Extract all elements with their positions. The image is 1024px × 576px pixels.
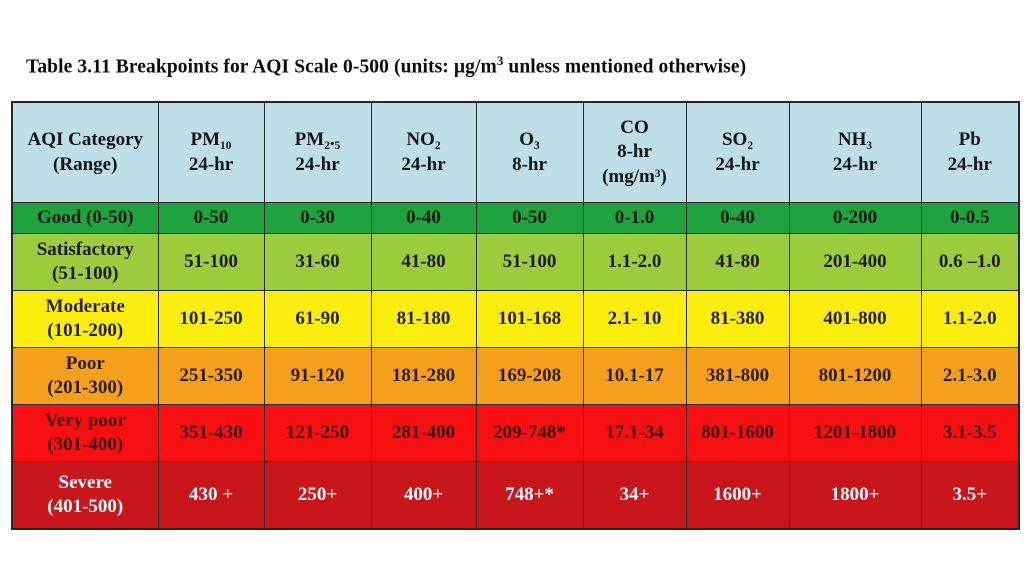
category-cell-severe: Severe (401-500) <box>12 462 158 530</box>
cell-good-co: 0-1.0 <box>583 203 686 234</box>
cell-poor-o3: 169-208 <box>476 348 583 405</box>
cell-severe-o3: 748+* <box>476 462 583 530</box>
cell-value: 801-1600 <box>687 421 789 445</box>
cell-value: 251-350 <box>159 364 264 388</box>
cell-value: 81-380 <box>687 307 789 331</box>
cell-value: 209-748* <box>477 421 583 445</box>
cell-poor-pm10: 251-350 <box>158 348 264 405</box>
cell-value: 31-60 <box>265 250 371 274</box>
header-line-1: NO₂ <box>372 128 476 152</box>
table-row-poor: Poor (201-300) 251-350 91-120 181-280 16… <box>12 348 1019 405</box>
cell-good-pm25: 0-30 <box>264 203 371 234</box>
cell-value: 381-800 <box>687 364 789 388</box>
category-label: Poor <box>13 352 158 376</box>
cell-poor-nh3: 801-1200 <box>789 348 921 405</box>
cell-satisfactory-pb: 0.6 –1.0 <box>921 234 1019 291</box>
cell-moderate-no2: 81-180 <box>371 291 476 348</box>
table-row-very-poor: Very poor (301-400) 351-430 121-250 281-… <box>12 405 1019 462</box>
column-header-so2: SO₂ 24-hr <box>686 102 789 203</box>
cell-satisfactory-o3: 51-100 <box>476 234 583 291</box>
category-range: (401-500) <box>13 495 158 519</box>
cell-good-no2: 0-40 <box>371 203 476 234</box>
cell-value: 1201-1800 <box>790 421 921 445</box>
cell-value: 0-200 <box>790 208 921 229</box>
table-row-good: Good (0-50) 0-50 0-30 0-40 0-50 0-1.0 0-… <box>12 203 1019 234</box>
category-label: Moderate <box>13 295 158 319</box>
cell-value: 201-400 <box>790 250 921 274</box>
cell-value: 17.1-34 <box>584 421 686 445</box>
category-cell-moderate: Moderate (101-200) <box>12 291 158 348</box>
cell-value: 101-168 <box>477 307 583 331</box>
cell-satisfactory-pm10: 51-100 <box>158 234 264 291</box>
cell-severe-pm10: 430 + <box>158 462 264 530</box>
cell-value: 10.1-17 <box>584 364 686 388</box>
category-range: (201-300) <box>13 376 158 400</box>
category-label: Severe <box>13 471 158 495</box>
table-title-prefix: Table 3.11 Breakpoints for AQI Scale 0-5… <box>26 57 497 78</box>
header-row: AQI Category (Range) PM₁₀ 24-hr PM₂.₅ 24… <box>12 102 1019 203</box>
cell-value: 51-100 <box>477 250 583 274</box>
header-line-1: Pb <box>922 128 1019 152</box>
table-title-suffix: unless mentioned otherwise) <box>503 57 746 78</box>
cell-value: 1600+ <box>687 483 789 507</box>
cell-value: 250+ <box>265 483 371 507</box>
header-line-2: 24-hr <box>687 153 789 177</box>
cell-value: 401-800 <box>790 307 921 331</box>
cell-value: 0-40 <box>687 208 789 229</box>
header-line-2: 24-hr <box>265 153 371 177</box>
header-line-2: 24-hr <box>372 153 476 177</box>
cell-value: 2.1- 10 <box>584 307 686 331</box>
cell-value: 0-40 <box>372 208 476 229</box>
cell-satisfactory-no2: 41-80 <box>371 234 476 291</box>
aqi-breakpoints-table: AQI Category (Range) PM₁₀ 24-hr PM₂.₅ 24… <box>11 101 1020 530</box>
cell-value: 281-400 <box>372 421 476 445</box>
header-line-1: AQI Category <box>13 128 158 152</box>
cell-value: 801-1200 <box>790 364 921 388</box>
column-header-aqi-category: AQI Category (Range) <box>12 102 158 203</box>
cell-good-pm10: 0-50 <box>158 203 264 234</box>
cell-very-poor-so2: 801-1600 <box>686 405 789 462</box>
cell-value: 430 + <box>159 483 264 507</box>
cell-poor-pb: 2.1-3.0 <box>921 348 1019 405</box>
cell-moderate-nh3: 401-800 <box>789 291 921 348</box>
header-line-1: SO₂ <box>687 128 789 152</box>
cell-value: 0-50 <box>159 208 264 229</box>
cell-very-poor-no2: 281-400 <box>371 405 476 462</box>
header-line-1: PM₁₀ <box>159 128 264 152</box>
category-cell-very-poor: Very poor (301-400) <box>12 405 158 462</box>
cell-satisfactory-pm25: 31-60 <box>264 234 371 291</box>
header-line-1: O₃ <box>477 128 583 152</box>
cell-value: 121-250 <box>265 421 371 445</box>
cell-moderate-pb: 1.1-2.0 <box>921 291 1019 348</box>
cell-poor-no2: 181-280 <box>371 348 476 405</box>
cell-very-poor-nh3: 1201-1800 <box>789 405 921 462</box>
cell-very-poor-pm25: 121-250 <box>264 405 371 462</box>
column-header-no2: NO₂ 24-hr <box>371 102 476 203</box>
cell-value: 0-30 <box>265 208 371 229</box>
cell-value: 748+* <box>477 483 583 507</box>
cell-value: 51-100 <box>159 250 264 274</box>
column-header-nh3: NH₃ 24-hr <box>789 102 921 203</box>
category-cell-satisfactory: Satisfactory (51-100) <box>12 234 158 291</box>
cell-moderate-co: 2.1- 10 <box>583 291 686 348</box>
cell-moderate-pm25: 61-90 <box>264 291 371 348</box>
cell-severe-so2: 1600+ <box>686 462 789 530</box>
cell-good-nh3: 0-200 <box>789 203 921 234</box>
column-header-pm10: PM₁₀ 24-hr <box>158 102 264 203</box>
header-line-1: NH₃ <box>790 128 921 152</box>
cell-value: 101-250 <box>159 307 264 331</box>
table-row-moderate: Moderate (101-200) 101-250 61-90 81-180 … <box>12 291 1019 348</box>
cell-satisfactory-so2: 41-80 <box>686 234 789 291</box>
cell-value: 0-0.5 <box>922 208 1019 229</box>
column-header-pm25: PM₂.₅ 24-hr <box>264 102 371 203</box>
cell-very-poor-o3: 209-748* <box>476 405 583 462</box>
column-header-co: CO 8-hr (mg/m³) <box>583 102 686 203</box>
cell-value: 181-280 <box>372 364 476 388</box>
cell-value: 0.6 –1.0 <box>922 250 1019 274</box>
header-line-2: (Range) <box>13 153 158 177</box>
cell-value: 3.5+ <box>922 483 1019 507</box>
category-label: Very poor <box>13 409 158 433</box>
cell-value: 2.1-3.0 <box>922 364 1019 388</box>
cell-value: 41-80 <box>687 250 789 274</box>
category-range: (101-200) <box>13 319 158 343</box>
header-line-1: PM₂.₅ <box>265 128 371 152</box>
category-cell-good: Good (0-50) <box>12 203 158 234</box>
cell-value: 169-208 <box>477 364 583 388</box>
header-line-2: 24-hr <box>159 153 264 177</box>
cell-severe-no2: 400+ <box>371 462 476 530</box>
cell-poor-pm25: 91-120 <box>264 348 371 405</box>
cell-poor-co: 10.1-17 <box>583 348 686 405</box>
cell-poor-so2: 381-800 <box>686 348 789 405</box>
cell-value: 34+ <box>584 483 686 507</box>
cell-value: 81-180 <box>372 307 476 331</box>
cell-value: 91-120 <box>265 364 371 388</box>
cell-moderate-pm10: 101-250 <box>158 291 264 348</box>
cell-value: 1.1-2.0 <box>584 250 686 274</box>
header-line-2: 8-hr <box>584 140 686 164</box>
cell-severe-pm25: 250+ <box>264 462 371 530</box>
cell-very-poor-co: 17.1-34 <box>583 405 686 462</box>
cell-very-poor-pm10: 351-430 <box>158 405 264 462</box>
cell-value: 1.1-2.0 <box>922 307 1019 331</box>
cell-satisfactory-nh3: 201-400 <box>789 234 921 291</box>
header-line-1: CO <box>584 116 686 140</box>
category-range: (301-400) <box>13 433 158 457</box>
cell-value: 3.1-3.5 <box>922 421 1019 445</box>
cell-value: 0-50 <box>477 208 583 229</box>
header-line-2: 8-hr <box>477 153 583 177</box>
cell-value: 61-90 <box>265 307 371 331</box>
cell-value: 41-80 <box>372 250 476 274</box>
category-label: Good (0-50) <box>13 208 158 229</box>
table-row-satisfactory: Satisfactory (51-100) 51-100 31-60 41-80… <box>12 234 1019 291</box>
table-row-severe: Severe (401-500) 430 + 250+ 400+ 748+* 3… <box>12 462 1019 530</box>
table-header: AQI Category (Range) PM₁₀ 24-hr PM₂.₅ 24… <box>12 102 1019 203</box>
header-line-2: 24-hr <box>790 153 921 177</box>
cell-value: 400+ <box>372 483 476 507</box>
cell-good-o3: 0-50 <box>476 203 583 234</box>
cell-good-pb: 0-0.5 <box>921 203 1019 234</box>
header-line-3: (mg/m³) <box>584 165 686 189</box>
cell-moderate-o3: 101-168 <box>476 291 583 348</box>
cell-good-so2: 0-40 <box>686 203 789 234</box>
header-line-2: 24-hr <box>922 153 1019 177</box>
cell-value: 0-1.0 <box>584 208 686 229</box>
table-title: Table 3.11 Breakpoints for AQI Scale 0-5… <box>26 54 746 79</box>
category-label: Satisfactory <box>13 238 158 262</box>
cell-moderate-so2: 81-380 <box>686 291 789 348</box>
table-body: Good (0-50) 0-50 0-30 0-40 0-50 0-1.0 0-… <box>12 203 1019 530</box>
cell-very-poor-pb: 3.1-3.5 <box>921 405 1019 462</box>
category-range: (51-100) <box>13 262 158 286</box>
cell-severe-co: 34+ <box>583 462 686 530</box>
column-header-o3: O₃ 8-hr <box>476 102 583 203</box>
cell-severe-nh3: 1800+ <box>789 462 921 530</box>
column-header-pb: Pb 24-hr <box>921 102 1019 203</box>
cell-severe-pb: 3.5+ <box>921 462 1019 530</box>
cell-satisfactory-co: 1.1-2.0 <box>583 234 686 291</box>
cell-value: 351-430 <box>159 421 264 445</box>
category-cell-poor: Poor (201-300) <box>12 348 158 405</box>
cell-value: 1800+ <box>790 483 921 507</box>
page-root: Table 3.11 Breakpoints for AQI Scale 0-5… <box>0 0 1024 576</box>
